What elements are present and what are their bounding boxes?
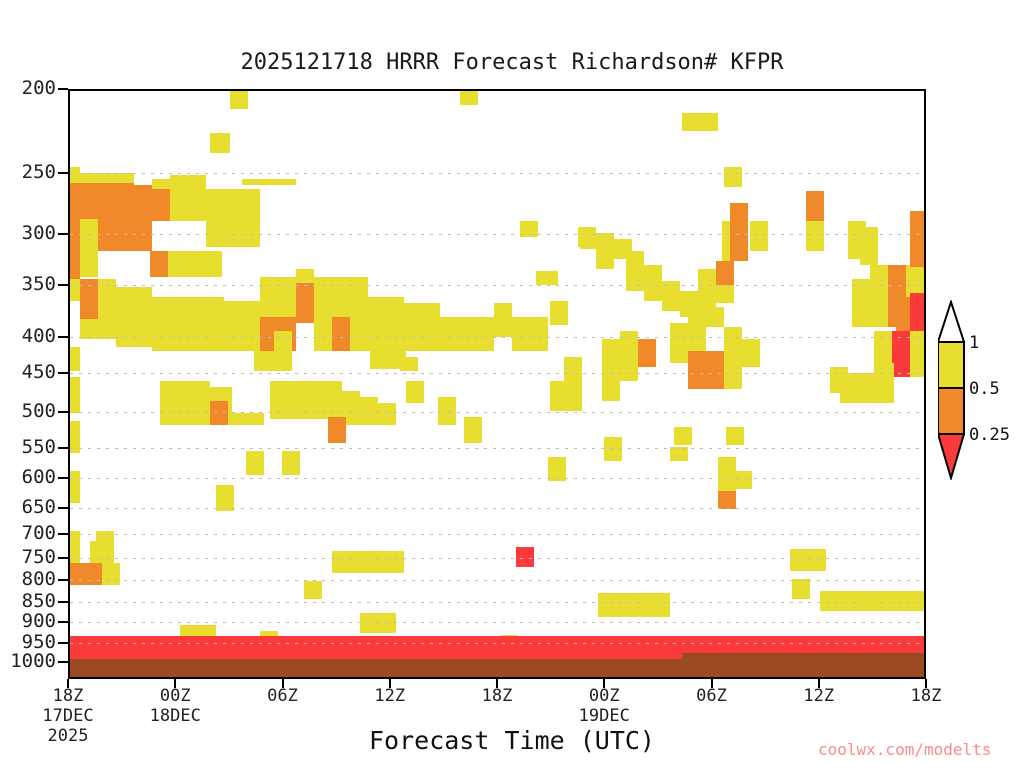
heatmap-cell xyxy=(806,221,824,251)
y-tick xyxy=(58,447,68,449)
heatmap-cell xyxy=(134,213,152,251)
heatmap-cell xyxy=(210,401,228,425)
heatmap-cell xyxy=(718,491,736,509)
heatmap-cell xyxy=(210,133,230,153)
gridline xyxy=(70,643,924,644)
x-tick-time: 12Z xyxy=(803,686,834,706)
y-tick xyxy=(58,284,68,286)
colorbar-label-0.25: 0.25 xyxy=(969,425,1010,445)
heatmap-cell xyxy=(790,549,826,571)
heatmap-cell xyxy=(204,251,222,277)
heatmap-cell xyxy=(604,437,622,461)
gridline xyxy=(70,602,924,603)
heatmap-cell xyxy=(70,483,80,503)
heatmap-cell xyxy=(206,189,224,221)
colorbar-label-0.5: 0.5 xyxy=(969,379,1000,399)
colorbar-segment-orange xyxy=(938,388,964,434)
heatmap-cell xyxy=(360,397,378,425)
heatmap-cell xyxy=(192,413,264,425)
gridline xyxy=(70,534,924,535)
x-tick-label: 00Z18DEC xyxy=(130,686,220,726)
heatmap-cell xyxy=(698,269,716,295)
y-tick xyxy=(58,621,68,623)
heatmap-cell xyxy=(70,279,80,301)
y-tick-label: 400 xyxy=(0,325,56,347)
heatmap-cell xyxy=(230,91,248,109)
heatmap-cell xyxy=(716,261,734,285)
heatmap-cell xyxy=(70,563,80,585)
heatmap-cell xyxy=(260,277,278,317)
heatmap-cell xyxy=(282,451,300,475)
heatmap-cell xyxy=(438,397,456,425)
heatmap-cell xyxy=(278,277,296,317)
gridline xyxy=(70,285,924,286)
heatmap-cell xyxy=(870,265,888,327)
heatmap-cell xyxy=(98,219,134,251)
heatmap-cell xyxy=(98,279,116,339)
gridline xyxy=(70,373,924,374)
gridline xyxy=(70,234,924,235)
watermark-link[interactable]: coolwx.com/modelts xyxy=(818,740,991,759)
gridline xyxy=(70,508,924,509)
y-tick-label: 700 xyxy=(0,522,56,544)
heatmap-cell xyxy=(598,593,670,617)
heatmap-cell xyxy=(724,167,742,187)
heatmap-cell xyxy=(70,261,80,279)
heatmap-cell xyxy=(152,189,170,221)
x-tick-label: 18Z xyxy=(452,686,542,706)
y-tick-label: 600 xyxy=(0,466,56,488)
heatmap-cell xyxy=(150,251,168,277)
x-tick-date: 17DEC xyxy=(23,706,113,726)
y-tick xyxy=(58,372,68,374)
heatmap-cell xyxy=(852,279,870,327)
x-tick-label: 00Z19DEC xyxy=(559,686,649,726)
heatmap-cell xyxy=(806,191,824,221)
heatmap-cell xyxy=(70,347,80,371)
heatmap-cell xyxy=(726,427,744,445)
x-tick-label: 06Z xyxy=(238,686,328,706)
heatmap-cell xyxy=(682,113,718,131)
heatmap-cell xyxy=(160,381,196,425)
heatmap-canvas xyxy=(70,91,924,677)
heatmap-cell xyxy=(476,317,494,351)
heatmap-cell xyxy=(170,185,188,221)
x-tick-date: 18DEC xyxy=(130,706,220,726)
heatmap-cell xyxy=(512,317,530,351)
y-tick-label: 300 xyxy=(0,222,56,244)
y-tick xyxy=(58,88,68,90)
x-tick-time: 00Z xyxy=(589,686,620,706)
heatmap-cell xyxy=(792,579,810,599)
heatmap-cell xyxy=(70,377,80,413)
heatmap-cell xyxy=(70,183,80,219)
y-tick-label: 900 xyxy=(0,610,56,632)
heatmap-cell xyxy=(332,551,404,573)
y-tick xyxy=(58,411,68,413)
y-tick-label: 450 xyxy=(0,361,56,383)
heatmap-cell xyxy=(406,381,424,403)
heatmap-cell xyxy=(550,301,568,325)
heatmap-cell xyxy=(550,381,568,411)
gridline xyxy=(70,478,924,479)
heatmap-cell xyxy=(304,581,322,599)
heatmap-cell xyxy=(270,381,342,419)
heatmap-cell xyxy=(670,447,688,461)
heatmap-cell xyxy=(464,417,482,443)
heatmap-cell xyxy=(188,185,206,221)
gridline xyxy=(70,622,924,623)
colorbar-arrow-top-icon xyxy=(938,302,964,342)
heatmap-cell xyxy=(116,287,152,313)
heatmap-cell xyxy=(314,277,332,317)
y-tick xyxy=(58,601,68,603)
y-tick xyxy=(58,579,68,581)
heatmap-cell xyxy=(332,317,350,351)
heatmap-cell xyxy=(80,183,134,219)
heatmap-cell xyxy=(530,317,548,351)
y-tick xyxy=(58,507,68,509)
heatmap-cell xyxy=(830,367,848,393)
heatmap-cell xyxy=(70,219,80,261)
y-tick-label: 200 xyxy=(0,77,56,99)
chart-page: 2025121718 HRRR Forecast Richardson# KFP… xyxy=(0,0,1024,768)
heatmap-cell xyxy=(734,471,752,489)
heatmap-cell xyxy=(186,251,204,277)
colorbar-segment-yellow xyxy=(938,342,964,388)
y-tick-label: 500 xyxy=(0,400,56,422)
y-tick xyxy=(58,642,68,644)
y-tick-label: 1000 xyxy=(0,650,56,672)
heatmap-cell xyxy=(730,203,748,261)
heatmap-cell xyxy=(670,323,688,363)
gridline xyxy=(70,558,924,559)
gridline xyxy=(70,173,924,174)
heatmap-cell xyxy=(332,277,350,317)
gridline xyxy=(70,448,924,449)
x-tick-time: 00Z xyxy=(160,686,191,706)
heatmap-cell xyxy=(360,613,396,633)
x-tick-time: 18Z xyxy=(482,686,513,706)
y-tick xyxy=(58,557,68,559)
y-tick xyxy=(58,233,68,235)
x-tick-label: 12Z xyxy=(345,686,435,706)
heatmap-cell xyxy=(674,427,692,445)
heatmap-cell xyxy=(400,357,418,371)
heatmap-cell xyxy=(378,403,396,425)
heatmap-cell xyxy=(638,339,656,367)
gridline xyxy=(70,412,924,413)
gridline xyxy=(70,580,924,581)
x-tick-date: 19DEC xyxy=(559,706,649,726)
colorbar: 1 0.5 0.25 xyxy=(938,300,1024,480)
heatmap-cell xyxy=(90,541,108,563)
heatmap-cell xyxy=(860,227,878,265)
heatmap-cell xyxy=(440,317,458,351)
heatmap-cell xyxy=(750,221,768,251)
heatmap-cell xyxy=(80,219,98,277)
heatmap-cell xyxy=(420,329,438,351)
heatmap-cell xyxy=(328,417,346,443)
heatmap-cell xyxy=(178,311,196,333)
x-tick-time: 06Z xyxy=(696,686,727,706)
heatmap-cell xyxy=(170,175,188,185)
heatmap-cell xyxy=(716,285,734,297)
heatmap-cell xyxy=(688,307,724,327)
y-tick-label: 650 xyxy=(0,496,56,518)
heatmap-cell xyxy=(134,185,152,213)
heatmap-cell xyxy=(602,339,620,401)
heatmap-cell xyxy=(168,251,186,277)
heatmap-cell xyxy=(890,591,924,611)
y-tick-label: 550 xyxy=(0,436,56,458)
y-tick-label: 800 xyxy=(0,568,56,590)
x-tick-label: 12Z xyxy=(774,686,864,706)
y-tick xyxy=(58,477,68,479)
x-tick-time: 18Z xyxy=(911,686,942,706)
heatmap-cell xyxy=(188,175,206,185)
heatmap-cell xyxy=(494,303,512,337)
heatmap-cell xyxy=(116,173,134,183)
heatmap-cell xyxy=(742,339,760,367)
heatmap-cell xyxy=(536,271,558,285)
heatmap-cell xyxy=(596,233,614,269)
y-tick xyxy=(58,336,68,338)
heatmap-cell xyxy=(152,179,170,189)
chart-title: 2025121718 HRRR Forecast Richardson# KFP… xyxy=(0,50,1024,75)
heatmap-cell xyxy=(350,277,368,351)
colorbar-arrow-bottom-icon xyxy=(938,434,964,478)
heatmap-cell xyxy=(80,319,98,339)
heatmap-cell xyxy=(876,363,894,403)
heatmap-cell xyxy=(296,283,314,323)
heatmap-cell xyxy=(688,351,724,389)
heatmap-cell xyxy=(644,265,662,301)
x-tick-label: 18Z xyxy=(881,686,971,706)
heatmap-cell xyxy=(70,541,80,563)
y-tick xyxy=(58,661,68,663)
heatmap-cell xyxy=(516,547,534,567)
y-tick xyxy=(58,533,68,535)
heatmap-cell xyxy=(242,179,296,185)
y-tick-label: 850 xyxy=(0,590,56,612)
y-tick xyxy=(58,172,68,174)
x-tick-label: 06Z xyxy=(667,686,757,706)
x-tick-time: 06Z xyxy=(267,686,298,706)
heatmap-cell xyxy=(80,173,116,183)
colorbar-label-1: 1 xyxy=(969,333,979,353)
heatmap-cell xyxy=(246,451,264,475)
y-tick-label: 750 xyxy=(0,546,56,568)
heatmap-cell xyxy=(116,313,152,347)
heatmap-cell xyxy=(910,239,924,267)
heatmap-cell xyxy=(460,91,478,105)
x-tick-time: 12Z xyxy=(374,686,405,706)
heatmap-cell xyxy=(80,563,102,585)
heatmap-cell xyxy=(820,591,892,611)
y-tick-label: 350 xyxy=(0,273,56,295)
heatmap-cell xyxy=(314,317,332,351)
heatmap-cell xyxy=(242,189,260,221)
heatmap-cell xyxy=(224,189,242,221)
plot-area xyxy=(68,89,926,679)
heatmap-cell xyxy=(102,563,120,585)
heatmap-cell xyxy=(458,317,476,351)
gridline xyxy=(70,337,924,338)
y-tick-label: 250 xyxy=(0,161,56,183)
x-tick-time: 18Z xyxy=(53,686,84,706)
terrain-band-step xyxy=(682,653,924,677)
